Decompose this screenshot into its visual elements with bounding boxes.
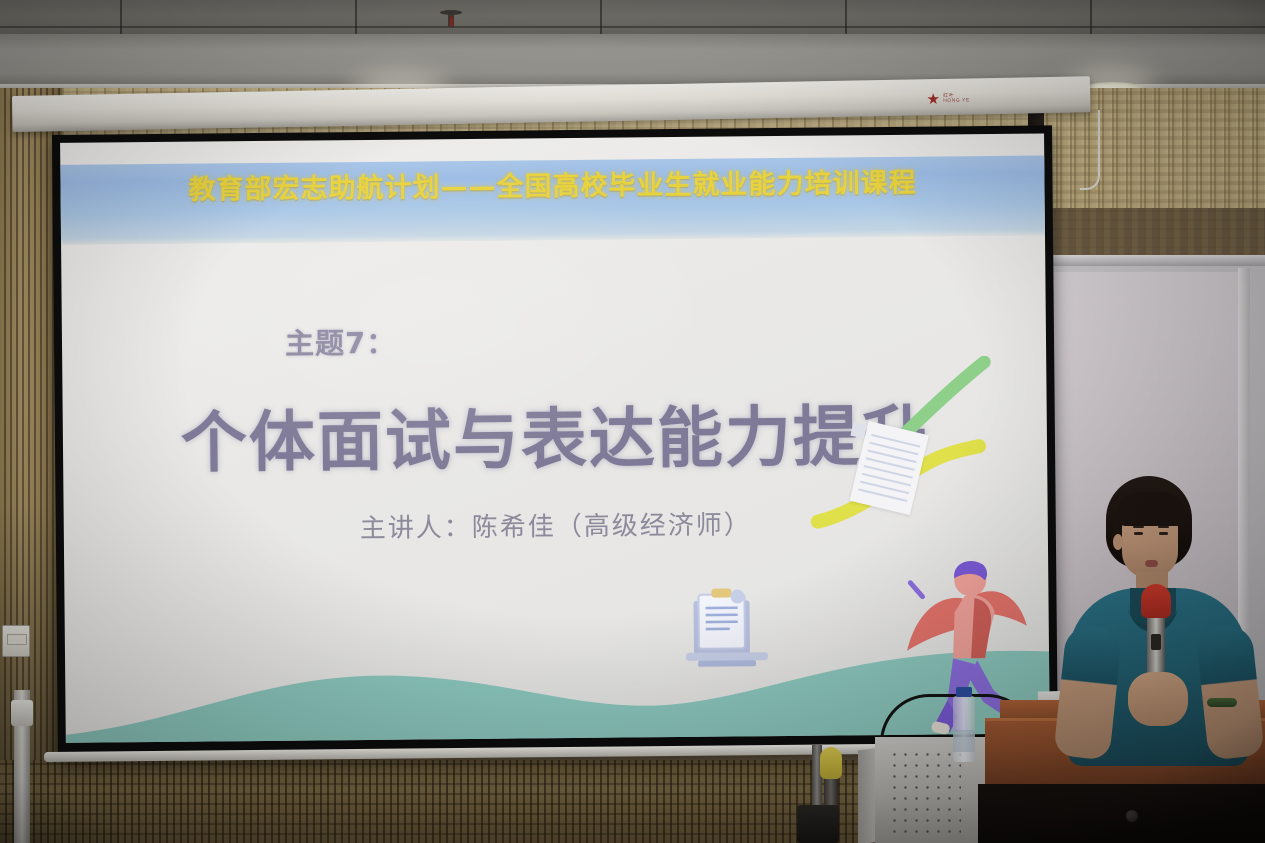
water-bottle[interactable] bbox=[953, 696, 975, 762]
presenter-brow-right bbox=[1158, 526, 1169, 528]
projection-screen: 教育部宏志助航计划——全国高校毕业生就业能力培训课程 主题7： 个体面试与表达能… bbox=[52, 125, 1058, 760]
fire-sprinkler-icon bbox=[440, 10, 462, 30]
right-wall-wallpaper bbox=[1040, 88, 1265, 273]
presenter-hair-front bbox=[1116, 492, 1186, 526]
ceiling-tiles bbox=[0, 0, 1265, 36]
mic-stand-base bbox=[797, 805, 839, 843]
handheld-microphone-switch[interactable] bbox=[1151, 634, 1161, 650]
stand-clip bbox=[11, 700, 33, 726]
presenter-person bbox=[1046, 476, 1265, 843]
star-icon bbox=[927, 93, 939, 105]
presenter-ear bbox=[1113, 534, 1123, 550]
presenter-eye-right bbox=[1159, 532, 1168, 535]
light-switch-plate[interactable] bbox=[2, 625, 30, 657]
presenter-mouth bbox=[1145, 560, 1158, 567]
presentation-slide: 教育部宏志助航计划——全国高校毕业生就业能力培训课程 主题7： 个体面试与表达能… bbox=[60, 133, 1050, 742]
presenter-brow-left bbox=[1133, 526, 1144, 528]
presenter-bracelet bbox=[1207, 698, 1237, 707]
lecture-hall-scene: 红叶 HONG YE 教育部宏志助航计划——全国高校毕业生就业能力培训课程 主题… bbox=[0, 0, 1265, 843]
door-header-trim bbox=[1038, 255, 1265, 266]
laptop-clipboard-icon bbox=[681, 586, 772, 671]
bottle-label bbox=[953, 730, 975, 752]
presenter-eye-left bbox=[1134, 532, 1143, 535]
presenter-hands bbox=[1128, 672, 1188, 726]
screen-brand-logo: 红叶 HONG YE bbox=[927, 88, 1023, 108]
bottle-cap bbox=[956, 687, 972, 697]
slide-topic-label: 主题7： bbox=[285, 320, 397, 363]
screen-pull-cable[interactable] bbox=[1080, 110, 1100, 190]
stand-microphone-head[interactable] bbox=[820, 747, 842, 779]
handheld-microphone-head[interactable] bbox=[1141, 584, 1171, 618]
brand-sub: HONG YE bbox=[943, 98, 970, 104]
